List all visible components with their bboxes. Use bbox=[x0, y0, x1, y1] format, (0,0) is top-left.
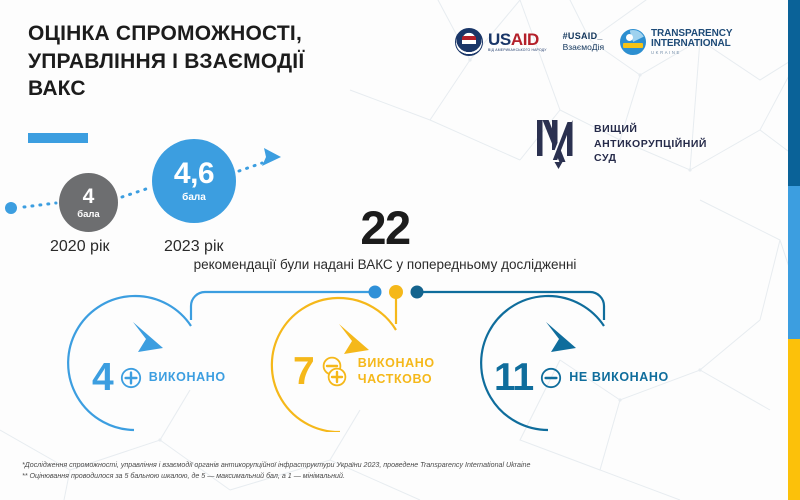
high-anticorruption-court-logo: ВИЩИЙ АНТИКОРУПЦІЙНИЙ СУД bbox=[536, 118, 707, 170]
usaid-word: USAID bbox=[488, 31, 547, 48]
group-partial-count: 7 bbox=[293, 352, 314, 391]
group-not-done: 11 НЕ ВИКОНАНО bbox=[494, 358, 669, 397]
footnote-line-2: ** Оцінювання проводилося за 5 бальною ш… bbox=[22, 471, 722, 482]
usaid-seal-icon bbox=[455, 28, 483, 56]
group-not-done-label: НЕ ВИКОНАНО bbox=[569, 370, 669, 385]
edge-bar-dark-blue bbox=[788, 0, 800, 186]
partner-logos: USAID ВІД АМЕРИКАНСЬКОГО НАРОДУ #USAID_ … bbox=[455, 18, 732, 66]
recommendations-caption: рекомендації були надані ВАКС у попередн… bbox=[0, 257, 800, 272]
transparency-international-logo: TRANSPARENCY INTERNATIONAL UKRAINE bbox=[620, 29, 732, 55]
usaid-vzaemodiya-logo: #USAID_ ВзаємоДія bbox=[563, 31, 604, 53]
minus-icon bbox=[540, 367, 562, 389]
arrow-done bbox=[133, 322, 163, 352]
group-partial-label-line-2: ЧАСТКОВО bbox=[358, 372, 435, 387]
infographic-canvas: ОЦІНКА СПРОМОЖНОСТІ, УПРАВЛІННЯ І ВЗАЄМО… bbox=[0, 0, 800, 500]
group-done-label: ВИКОНАНО bbox=[149, 370, 226, 385]
plus-minus-icon bbox=[321, 356, 351, 388]
arrow-partial bbox=[339, 324, 369, 354]
group-done: 4 ВИКОНАНО bbox=[92, 358, 226, 397]
transparency-international-wordmark: TRANSPARENCY INTERNATIONAL UKRAINE bbox=[651, 29, 732, 55]
node-done bbox=[369, 286, 382, 299]
usaid-word-aid: AID bbox=[511, 30, 539, 49]
hashtag-line-2: ВзаємоДія bbox=[563, 42, 604, 53]
usaid-wordmark: USAID ВІД АМЕРИКАНСЬКОГО НАРОДУ bbox=[488, 31, 547, 52]
ti-line-2: INTERNATIONAL bbox=[651, 39, 732, 50]
usaid-tagline: ВІД АМЕРИКАНСЬКОГО НАРОДУ bbox=[488, 49, 547, 53]
group-done-count: 4 bbox=[92, 358, 113, 397]
footnotes: *Дослідження спроможності, управління і … bbox=[22, 460, 722, 483]
group-not-done-count: 11 bbox=[494, 358, 533, 397]
footnote-line-1: *Дослідження спроможності, управління і … bbox=[22, 460, 722, 471]
recommendations-count: 22 bbox=[0, 200, 800, 255]
group-partial-label-line-1: ВИКОНАНО bbox=[358, 356, 435, 371]
title-line-2: УПРАВЛІННЯ І ВЗАЄМОДІЇ bbox=[28, 48, 458, 76]
node-partial bbox=[389, 285, 403, 299]
node-notdone bbox=[411, 286, 424, 299]
court-name-line-1: ВИЩИЙ bbox=[594, 122, 707, 137]
group-partial-label: ВИКОНАНО ЧАСТКОВО bbox=[358, 356, 435, 387]
title-line-3: ВАКС bbox=[28, 75, 458, 103]
court-name: ВИЩИЙ АНТИКОРУПЦІЙНИЙ СУД bbox=[594, 122, 707, 167]
page-title: ОЦІНКА СПРОМОЖНОСТІ, УПРАВЛІННЯ І ВЗАЄМО… bbox=[28, 20, 458, 103]
ti-line-3: UKRAINE bbox=[651, 51, 732, 55]
arrow-notdone bbox=[546, 322, 576, 352]
hashtag-line-1: #USAID_ bbox=[563, 31, 604, 42]
usaid-logo: USAID ВІД АМЕРИКАНСЬКОГО НАРОДУ bbox=[455, 28, 547, 56]
score-value-2023: 4,6 bbox=[174, 159, 214, 189]
court-name-line-3: СУД bbox=[594, 151, 707, 166]
transparency-international-mark-icon bbox=[620, 29, 646, 55]
court-trident-icon bbox=[536, 118, 582, 170]
plus-icon bbox=[120, 367, 142, 389]
usaid-word-us: US bbox=[488, 30, 511, 49]
court-name-line-2: АНТИКОРУПЦІЙНИЙ bbox=[594, 137, 707, 152]
title-line-1: ОЦІНКА СПРОМОЖНОСТІ, bbox=[28, 20, 458, 48]
group-partial: 7 ВИКОНАНО ЧАСТКОВО bbox=[293, 352, 435, 391]
